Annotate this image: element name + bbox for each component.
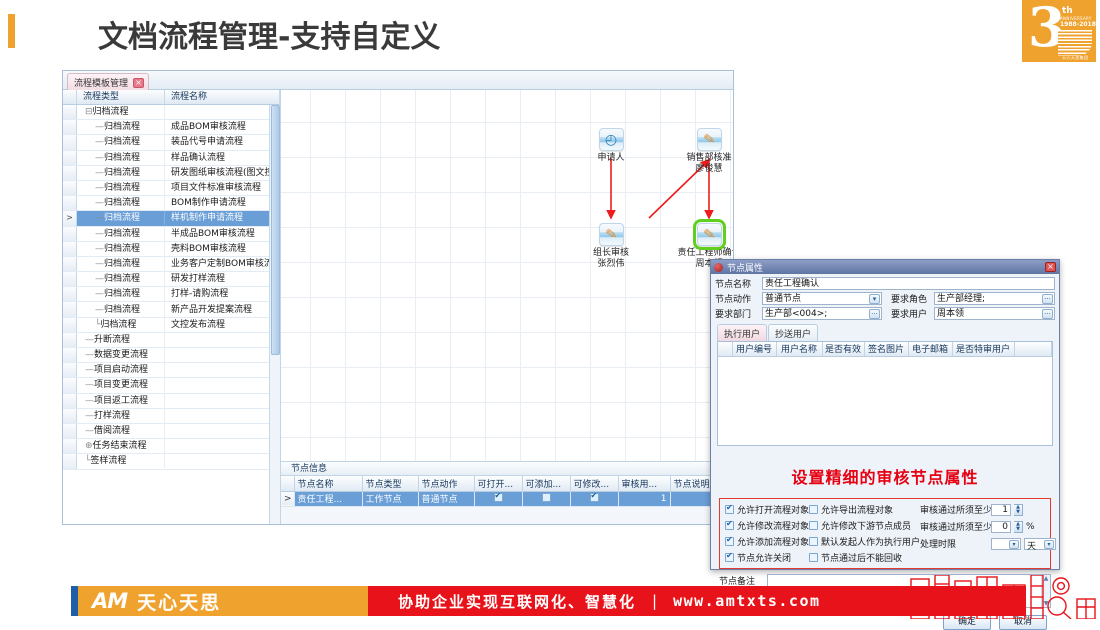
anniversary-badge: 3 th ANNIVERSARY 1988-2018 天心天思集团 [1022, 0, 1096, 62]
row-marker [63, 242, 77, 256]
option-checkbox[interactable]: 允许打开流程对象 [725, 503, 809, 516]
process-tree-panel: 流程类型 流程名称 ⊟ 归档流程— 归档流程成品BOM审核流程— 归档流程装品代… [63, 90, 281, 524]
tree-row-type-label: 项目启动流程 [94, 365, 148, 375]
title-accent-bar [8, 14, 15, 48]
row-marker [63, 151, 77, 165]
min-ratio-unit: % [1026, 522, 1035, 532]
tree-row[interactable]: — 归档流程研发打样流程 [63, 272, 280, 287]
tree-row-type: — 归档流程 [77, 242, 165, 256]
flowchart-arrows [281, 90, 733, 461]
require-user-value: 周本领 [937, 309, 964, 319]
tree-row-type-label: 归档流程 [104, 198, 140, 208]
tree-indent-icon[interactable]: ⊟ [85, 105, 93, 119]
dialog-titlebar[interactable]: 节点属性 × [711, 260, 1059, 274]
tree-row[interactable]: — 归档流程新产品开发提案流程 [63, 302, 280, 317]
badge-th: th [1062, 6, 1073, 16]
user-grid-header-cell[interactable] [718, 342, 732, 356]
checkbox-icon[interactable] [725, 537, 734, 546]
tree-row-name: 新产品开发提案流程 [165, 303, 280, 317]
require-user-label: 要求用户 [891, 307, 931, 320]
min-ratio-input[interactable]: 0 [991, 521, 1011, 533]
tree-row-name: 成品BOM审核流程 [165, 120, 280, 134]
dialog-red-banner: 设置精细的审核节点属性 [715, 464, 1055, 488]
tree-row-type: — 归档流程 [77, 135, 165, 149]
banner-separator: | [652, 592, 657, 610]
node-label: 责任工程师确认 [672, 248, 733, 259]
banner-logo-block: AM 天心天思 [78, 586, 368, 616]
tree-row[interactable]: ⊟ 归档流程 [63, 105, 280, 120]
checkbox-label: 允许打开流程对象 [737, 503, 809, 516]
node-info-table: 节点名称节点类型节点动作可打开...可添加...可修改...审核用...节点说明… [281, 476, 733, 507]
tree-row-name: 半成品BOM审核流程 [165, 227, 280, 241]
row-marker [63, 105, 77, 119]
brand-logo-latin: AM [92, 589, 127, 613]
tree-row[interactable]: — 项目变更流程 [63, 378, 280, 393]
node-assignee: 张烈伟 [574, 259, 648, 270]
row-marker [63, 287, 77, 301]
tree-row-type: — 项目返工流程 [77, 394, 165, 408]
banner-url: www.amtxts.com [673, 592, 820, 610]
node-assignee: 廖俊慧 [672, 164, 733, 175]
tree-row-type-label: 归档流程 [104, 244, 140, 254]
scrollbar-thumb[interactable] [271, 105, 280, 355]
flow-node-sales[interactable]: ✎销售部核准廖俊慧 [672, 128, 733, 175]
node-glyph: ✎ [696, 130, 721, 149]
tree-row-name: 项目文件标准审核流程 [165, 181, 280, 195]
tree-row-name: 样机制作申请流程 [165, 211, 280, 225]
window-body: 流程类型 流程名称 ⊟ 归档流程— 归档流程成品BOM审核流程— 归档流程装品代… [63, 90, 733, 524]
node-action-select[interactable]: 普通节点 ▾ [762, 292, 882, 305]
chevron-down-icon[interactable]: ▾ [1009, 540, 1019, 549]
checkbox-label: 节点允许关闭 [737, 551, 791, 564]
flow-node-start[interactable]: ◴申请人 [574, 128, 648, 164]
tree-row-type: — 归档流程 [77, 196, 165, 210]
cell-can-open [474, 491, 522, 506]
tree-row-name: 研发图纸审核流程(图文控发放) [165, 166, 280, 180]
tree-indent-icon[interactable]: — [85, 333, 94, 347]
node-label: 销售部核准 [672, 153, 733, 164]
checkbox-icon[interactable] [494, 493, 503, 502]
tree-row[interactable]: — 归档流程壳料BOM审核流程 [63, 242, 280, 257]
checkbox-label: 节点通过后不能回收 [821, 551, 902, 564]
tree-row-type-label: 归档流程 [104, 229, 140, 239]
user-grid-header-cell[interactable]: 用户名称 [776, 342, 822, 356]
tree-row[interactable]: — 归档流程成品BOM审核流程 [63, 120, 280, 135]
user-grid-header-cell[interactable]: 签名图片 [864, 342, 908, 356]
options-column-1: 允许打开流程对象允许修改流程对象允许添加流程对象节点允许关闭 [725, 503, 809, 564]
user-grid-header-cell[interactable]: 是否特审用户 [952, 342, 1014, 356]
row-marker [63, 120, 77, 134]
tree-header-name[interactable]: 流程名称 [165, 90, 280, 104]
cell-can-add [522, 491, 570, 506]
row-marker [63, 348, 77, 362]
tree-row-type-label: 归档流程 [100, 320, 136, 330]
min-ratio-row: 审核通过所须至少比例 0 ▲▼ % [920, 520, 1056, 533]
edit-icon: ✎ [697, 128, 722, 151]
tree-row-type: — 归档流程 [77, 303, 165, 317]
tree-row-type-label: 归档流程 [104, 305, 140, 315]
flow-node-leader[interactable]: ✎组长审核张烈伟 [574, 223, 648, 270]
require-role-input[interactable]: 生产部经理; ··· [934, 292, 1055, 305]
tree-row[interactable]: — 归档流程研发图纸审核流程(图文控发放) [63, 166, 280, 181]
tree-indent-icon[interactable]: — [95, 257, 104, 271]
row-marker [63, 181, 77, 195]
tree-row-type: — 归档流程 [77, 211, 165, 225]
ellipsis-icon[interactable]: ··· [1042, 309, 1053, 319]
tree-row-type-label: 归档流程 [104, 274, 140, 284]
tree-row-type: — 归档流程 [77, 227, 165, 241]
brand-logo-cn: 天心天思 [137, 588, 221, 615]
tree-row[interactable]: — 归档流程项目文件标准审核流程 [63, 181, 280, 196]
tree-row-type-label: 打样流程 [94, 411, 130, 421]
tree-row-type: — 归档流程 [77, 181, 165, 195]
deadline-unit: 天 [1027, 542, 1036, 552]
tree-row-type: — 归档流程 [77, 166, 165, 180]
tree-row-type-label: 归档流程 [104, 259, 140, 269]
dialog-tab[interactable]: 抄送用户 [768, 324, 818, 341]
node-label: 申请人 [574, 153, 648, 164]
tree-row[interactable]: — 借阅流程 [63, 424, 280, 439]
tree-row-type: └ 归档流程 [77, 318, 165, 332]
min-people-label: 审核通过所须至少人数 [920, 503, 988, 516]
tree-row-name: 研发打样流程 [165, 272, 280, 286]
tree-indent-icon[interactable]: — [85, 363, 94, 377]
tree-row[interactable]: — 归档流程装品代号申请流程 [63, 135, 280, 150]
deadline-unit-select[interactable]: 天 ▾ [1024, 538, 1056, 550]
ellipsis-icon[interactable]: ··· [869, 309, 880, 319]
tree-row[interactable]: — 项目启动流程 [63, 363, 280, 378]
tree-row-type: — 升断流程 [77, 333, 165, 347]
tree-indent-icon[interactable]: — [95, 303, 104, 317]
node-action-label: 节点动作 [715, 292, 759, 305]
option-checkbox[interactable]: 节点通过后不能回收 [809, 551, 920, 564]
row-marker [63, 196, 77, 210]
row-marker [63, 302, 77, 316]
tree-row-type-label: 归档流程 [104, 289, 140, 299]
checkbox-icon[interactable] [725, 553, 734, 562]
require-role-value: 生产部经理; [937, 294, 985, 304]
dialog-tab[interactable]: 执行用户 [717, 324, 767, 341]
tree-row-name: 装品代号申请流程 [165, 135, 280, 149]
chevron-down-icon[interactable]: ▾ [1044, 540, 1054, 549]
row-marker [63, 454, 77, 468]
badge-years: 1988-2018 [1060, 21, 1096, 28]
tree-row-name: 打样-请购流程 [165, 287, 280, 301]
checkbox-icon[interactable] [809, 537, 818, 546]
node-info-header-cell[interactable] [281, 476, 294, 491]
dialog-tabs: 执行用户抄送用户 [717, 324, 1055, 341]
workflow-right-pane: ◴申请人✎销售部核准廖俊慧✎研发主管审核李雄✎入库确认张茜✎组长审核张烈伟✎责任… [281, 90, 733, 524]
row-marker [63, 257, 77, 271]
tree-row-type: — 数据变更流程 [77, 348, 165, 362]
tree-indent-icon[interactable]: — [95, 135, 104, 149]
tree-row[interactable]: — 打样流程 [63, 409, 280, 424]
checkbox-icon[interactable] [809, 521, 818, 530]
ellipsis-icon[interactable]: ··· [1042, 294, 1053, 304]
require-dept-value: 生产部<004>; [765, 309, 827, 319]
banner-blue-bar [71, 586, 78, 616]
edit-icon: ✎ [697, 223, 722, 246]
node-info-header-cell[interactable]: 节点动作 [418, 476, 474, 491]
row-marker [63, 272, 77, 286]
user-grid-table: 用户编号用户名称是否有效签名图片电子邮箱是否特审用户 [718, 342, 1052, 357]
options-column-3: 审核通过所须至少人数 1 ▲▼ 审核通过所须至少比例 0 ▲▼ % 处理时限 ▾ [920, 503, 1056, 564]
tab-flow-template-management[interactable]: 流程模板管理 × [67, 73, 149, 90]
tree-row[interactable]: — 归档流程业务客户定制BOM审核流程 [63, 257, 280, 272]
tree-row-type: — 借阅流程 [77, 424, 165, 438]
tree-row-name: 壳料BOM审核流程 [165, 242, 280, 256]
deadline-label: 处理时限 [920, 537, 988, 550]
tree-row-type-label: 归档流程 [104, 168, 140, 178]
tree-indent-icon[interactable]: — [95, 227, 104, 241]
node-info-header-cell[interactable]: 可打开... [474, 476, 522, 491]
close-icon[interactable]: × [1045, 262, 1056, 272]
badge-brand: 天心天思集团 [1062, 55, 1088, 61]
require-role-label: 要求角色 [891, 292, 931, 305]
tree-row-type: — 归档流程 [77, 287, 165, 301]
user-grid[interactable]: 用户编号用户名称是否有效签名图片电子邮箱是否特审用户 [717, 341, 1053, 446]
deadline-input[interactable]: ▾ [991, 538, 1021, 550]
checkbox-label: 允许修改流程对象 [737, 519, 809, 532]
tree-vertical-scrollbar[interactable] [269, 105, 280, 524]
tree-row[interactable]: — 升断流程 [63, 333, 280, 348]
tree-header-type[interactable]: 流程类型 [77, 90, 165, 104]
row-marker [63, 318, 77, 332]
node-info-header-cell[interactable]: 节点类型 [362, 476, 418, 491]
node-info-header-cell[interactable]: 节点名称 [294, 476, 362, 491]
spinner-icon[interactable]: ▲▼ [1014, 504, 1023, 516]
node-action-value: 普通节点 [765, 294, 801, 304]
tree-indent-icon[interactable]: — [95, 151, 104, 165]
tree-row-name: 样品确认流程 [165, 151, 280, 165]
cell-node-action: 普通节点 [418, 491, 474, 506]
tree-row-type-label: 归档流程 [104, 183, 140, 193]
checkbox-icon[interactable] [809, 505, 818, 514]
checkbox-icon[interactable] [725, 505, 734, 514]
tree-row[interactable]: — 归档流程样品确认流程 [63, 151, 280, 166]
checkbox-label: 允许添加流程对象 [737, 535, 809, 548]
tree-row-type-label: 升断流程 [94, 335, 130, 345]
tree-indent-icon[interactable]: — [95, 272, 104, 286]
node-info-header-cell[interactable]: 可添加... [522, 476, 570, 491]
chevron-down-icon[interactable]: ▾ [869, 294, 880, 304]
require-user-input[interactable]: 周本领 ··· [934, 307, 1055, 320]
spinner-icon[interactable]: ▲▼ [1014, 521, 1023, 533]
option-checkbox[interactable]: 允许修改下游节点成员 [809, 519, 920, 532]
window-tabbar: 流程模板管理 × [63, 71, 733, 90]
footer-banner: AM 天心天思 协助企业实现互联网化、智慧化 | www.amtxts.com [0, 575, 1100, 619]
tree-row-type-label: 归档流程 [104, 153, 140, 163]
tree-row-type: — 打样流程 [77, 409, 165, 423]
node-name-label: 节点名称 [715, 277, 759, 290]
tree-row-type-label: 签样流程 [90, 456, 126, 466]
row-marker [63, 378, 77, 392]
tree-row-type: — 归档流程 [77, 120, 165, 134]
row-marker [63, 439, 77, 453]
tree-indent-icon[interactable]: — [95, 196, 104, 210]
tree-row[interactable]: — 数据变更流程 [63, 348, 280, 363]
node-info-header-cell[interactable]: 可修改... [570, 476, 618, 491]
user-grid-header-cell[interactable]: 电子邮箱 [908, 342, 952, 356]
row-marker [63, 333, 77, 347]
table-row[interactable]: >责任工程...工作节点普通节点1 [281, 491, 733, 506]
min-ratio-label: 审核通过所须至少比例 [920, 520, 988, 533]
row-marker [63, 227, 77, 241]
tree-row-type: ⊕ 任务结束流程 [77, 439, 165, 453]
row-marker [63, 135, 77, 149]
tree-row-type: — 项目启动流程 [77, 363, 165, 377]
tree-row-name: 文控发布流程 [165, 318, 280, 332]
tree-row-type-label: 归档流程 [104, 213, 140, 223]
node-label: 组长审核 [574, 248, 648, 259]
user-grid-header-cell[interactable] [1014, 342, 1052, 356]
field-row-node-name: 节点名称 责任工程确认 [715, 277, 1055, 290]
tree-row[interactable]: — 归档流程半成品BOM审核流程 [63, 227, 280, 242]
tab-label: 流程模板管理 [74, 76, 128, 89]
tree-indent-icon[interactable]: — [85, 378, 94, 392]
dialog-title: 节点属性 [727, 261, 1041, 274]
node-info-body: >责任工程...工作节点普通节点1 [281, 491, 733, 506]
option-checkbox[interactable]: 节点允许关闭 [725, 551, 809, 564]
application-window: 流程模板管理 × 流程类型 流程名称 ⊟ 归档流程— 归档流程成品BOM审核流程… [62, 70, 734, 525]
skyline-svg [905, 575, 1100, 619]
dialog-icon [714, 263, 723, 272]
option-checkbox[interactable]: 允许修改流程对象 [725, 519, 809, 532]
tree-row[interactable]: — 归档流程打样-请购流程 [63, 287, 280, 302]
row-marker [63, 166, 77, 180]
checkbox-label: 允许导出流程对象 [821, 503, 893, 516]
cell-node-name: 责任工程... [294, 491, 362, 506]
tree-indent-icon[interactable]: — [95, 166, 104, 180]
option-checkbox[interactable]: 默认发起人作为执行用户 [809, 535, 920, 548]
tree-row-type: — 归档流程 [77, 257, 165, 271]
row-marker [63, 363, 77, 377]
tree-row-type: └ 签样流程 [77, 454, 165, 468]
checkbox-label: 允许修改下游节点成员 [821, 519, 911, 532]
tree-row-type-label: 归档流程 [104, 122, 140, 132]
tree-row-type-label: 项目返工流程 [94, 396, 148, 406]
tree-row[interactable]: — 项目返工流程 [63, 394, 280, 409]
tree-row-type: — 项目变更流程 [77, 378, 165, 392]
badge-stripes [1058, 30, 1092, 56]
option-checkbox[interactable]: 允许添加流程对象 [725, 535, 809, 548]
tree-row[interactable]: ⊕ 任务结束流程 [63, 439, 280, 454]
tree-header-gutter [63, 90, 77, 104]
row-marker: > [281, 491, 294, 506]
tree-row-name: BOM制作申请流程 [165, 196, 280, 210]
node-info-caption: 节点信息 [281, 462, 733, 476]
min-people-row: 审核通过所须至少人数 1 ▲▼ [920, 503, 1056, 516]
tree-row-type: — 归档流程 [77, 272, 165, 286]
tree-row-type-label: 归档流程 [104, 137, 140, 147]
node-options-box: 允许打开流程对象允许修改流程对象允许添加流程对象节点允许关闭 允许导出流程对象允… [719, 498, 1051, 569]
node-properties-dialog: 节点属性 × 节点名称 责任工程确认 节点动作 普通节点 ▾ 要求角色 生产部经… [710, 259, 1060, 570]
option-checkbox[interactable]: 允许导出流程对象 [809, 503, 920, 516]
deadline-row: 处理时限 ▾ 天 ▾ [920, 537, 1056, 550]
user-grid-header-cell[interactable]: 是否有效 [822, 342, 864, 356]
node-info-header-cell[interactable]: 审核用... [618, 476, 670, 491]
tree-indent-icon[interactable]: ⊕ [85, 439, 93, 453]
tree-row-type-label: 借阅流程 [94, 426, 130, 436]
user-grid-header-cell[interactable]: 用户编号 [732, 342, 776, 356]
checkbox-icon[interactable] [542, 493, 551, 502]
field-row-require-dept: 要求部门 生产部<004>; ··· 要求用户 周本领 ··· [715, 307, 1055, 320]
tree-row-type-label: 任务结束流程 [93, 441, 147, 451]
tree-indent-icon[interactable]: — [95, 120, 104, 134]
tree-header-row: 流程类型 流程名称 [63, 90, 280, 105]
city-skyline-graphic [905, 575, 1100, 619]
cell-can-modify [570, 491, 618, 506]
checkbox-icon[interactable] [809, 553, 818, 562]
row-marker: > [63, 211, 77, 225]
flowchart-canvas[interactable]: ◴申请人✎销售部核准廖俊慧✎研发主管审核李雄✎入库确认张茜✎组长审核张烈伟✎责任… [281, 90, 733, 462]
min-people-input[interactable]: 1 [991, 504, 1011, 516]
tree-indent-icon[interactable]: — [85, 409, 94, 423]
row-marker [63, 394, 77, 408]
user-grid-header-row: 用户编号用户名称是否有效签名图片电子邮箱是否特审用户 [718, 342, 1052, 356]
checkbox-icon[interactable] [725, 521, 734, 530]
node-name-input[interactable]: 责任工程确认 [762, 277, 1055, 290]
tree-row[interactable]: └ 签样流程 [63, 454, 280, 469]
tree-row-type-label: 数据变更流程 [94, 350, 148, 360]
require-dept-input[interactable]: 生产部<004>; ··· [762, 307, 882, 320]
row-marker [63, 424, 77, 438]
cell-review-count: 1 [618, 491, 670, 506]
require-dept-label: 要求部门 [715, 307, 759, 320]
node-info-header-row: 节点名称节点类型节点动作可打开...可添加...可修改...审核用...节点说明 [281, 476, 733, 491]
tree-row-type: — 归档流程 [77, 151, 165, 165]
cell-node-type: 工作节点 [362, 491, 418, 506]
tree-rows: ⊟ 归档流程— 归档流程成品BOM审核流程— 归档流程装品代号申请流程— 归档流… [63, 105, 280, 524]
options-column-2: 允许导出流程对象允许修改下游节点成员默认发起人作为执行用户节点通过后不能回收 [809, 503, 920, 564]
tree-row-name: 业务客户定制BOM审核流程 [165, 257, 280, 271]
tree-indent-icon[interactable]: — [85, 394, 94, 408]
tree-indent-icon[interactable]: — [95, 181, 104, 195]
tree-row-type-label: 项目变更流程 [94, 380, 148, 390]
close-icon[interactable]: × [133, 78, 144, 88]
tree-indent-icon[interactable]: — [95, 211, 104, 225]
field-row-node-action: 节点动作 普通节点 ▾ 要求角色 生产部经理; ··· [715, 292, 1055, 305]
tree-row[interactable]: — 归档流程BOM制作申请流程 [63, 196, 280, 211]
node-glyph: ◴ [600, 132, 623, 148]
tree-row[interactable]: └ 归档流程文控发布流程 [63, 318, 280, 333]
tree-row-type: ⊟ 归档流程 [77, 105, 165, 119]
checkbox-label: 默认发起人作为执行用户 [821, 535, 920, 548]
node-glyph: ✎ [598, 225, 623, 244]
tree-indent-icon[interactable]: — [85, 424, 94, 438]
banner-slogan: 协助企业实现互联网化、智慧化 [398, 591, 636, 612]
tree-row-type-label: 归档流程 [93, 107, 129, 117]
clock-icon: ◴ [599, 128, 624, 151]
node-info-panel: 节点信息 节点名称节点类型节点动作可打开...可添加...可修改...审核用..… [281, 462, 733, 524]
tree-indent-icon[interactable]: — [85, 348, 94, 362]
row-marker [63, 409, 77, 423]
checkbox-icon[interactable] [590, 493, 599, 502]
edit-icon: ✎ [599, 223, 624, 246]
tree-row[interactable]: >— 归档流程样机制作申请流程 [63, 211, 280, 226]
page-title: 文档流程管理-支持自定义 [98, 12, 440, 56]
tree-indent-icon[interactable]: — [95, 287, 104, 301]
node-glyph: ✎ [696, 225, 721, 244]
tree-indent-icon[interactable]: — [95, 242, 104, 256]
